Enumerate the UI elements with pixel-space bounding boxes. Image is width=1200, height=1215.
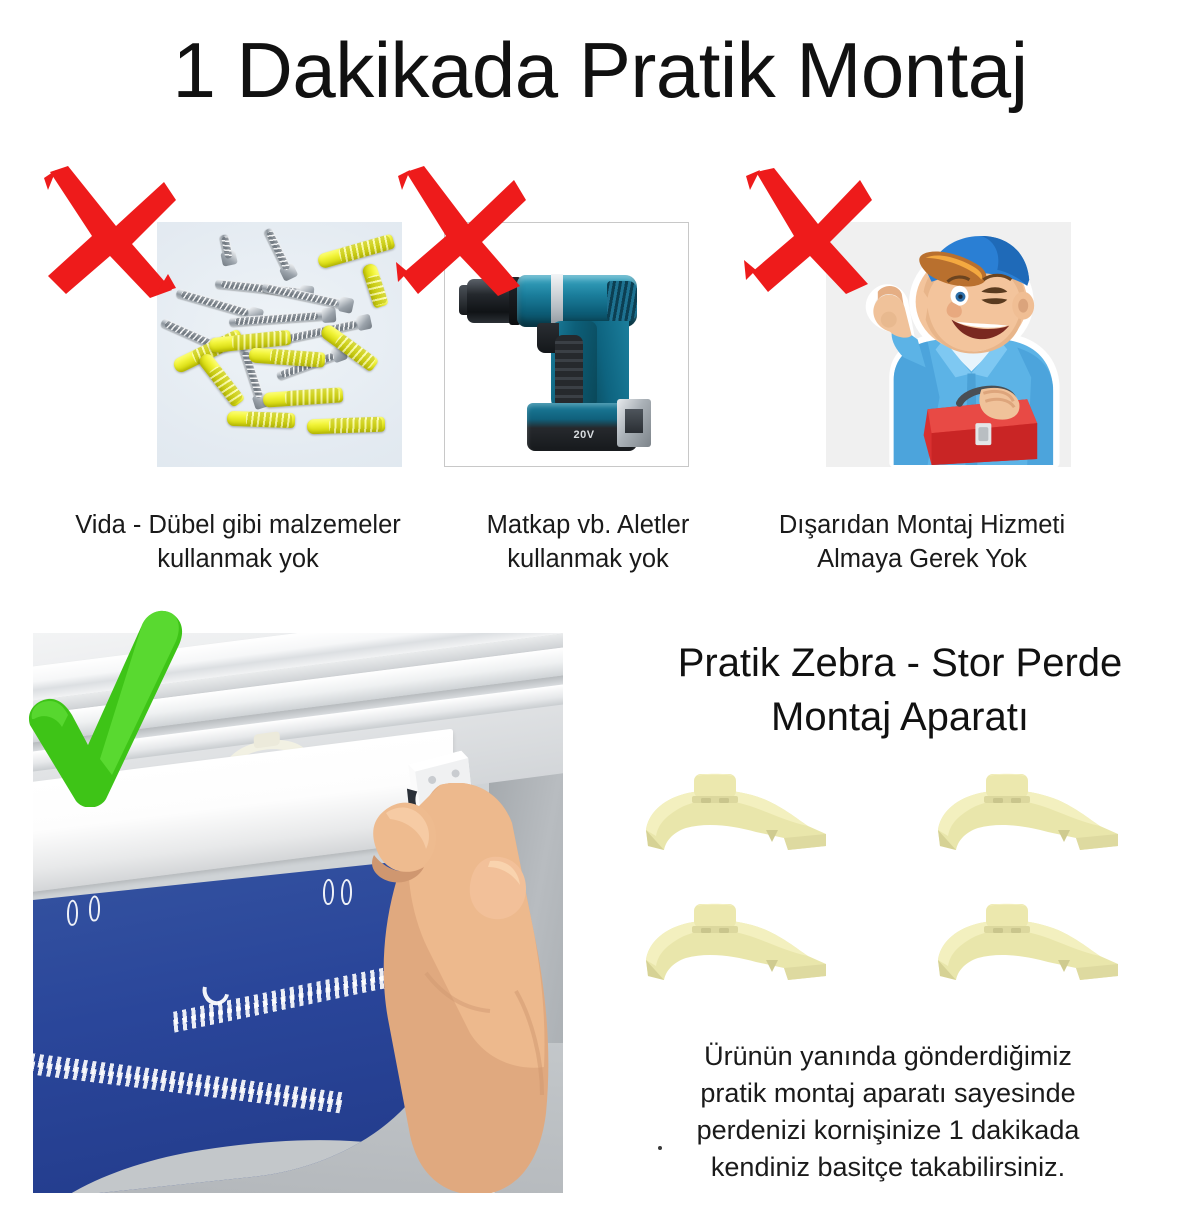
product-description-line2: pratik montaj aparatı sayesinde <box>700 1078 1075 1108</box>
infographic-page: 1 Dakikada Pratik Montaj Vida - Dübel gi… <box>0 0 1200 1215</box>
curtain-rail-mounting-clip <box>930 902 1130 988</box>
stray-dot <box>658 1146 662 1150</box>
product-heading-line2: Montaj Aparatı <box>771 695 1029 739</box>
product-heading-line1: Pratik Zebra - Stor Perde <box>678 641 1123 685</box>
caption-worker-line2: Almaya Gerek Yok <box>817 545 1027 573</box>
caption-screws: Vida - Dübel gibi malzemeler kullanmak y… <box>28 508 448 576</box>
handyman-illustration <box>832 228 1071 467</box>
caption-drill-line1: Matkap vb. Aletler <box>487 511 690 539</box>
green-check-icon <box>22 607 190 807</box>
caption-worker-line1: Dışarıdan Montaj Hizmeti <box>779 511 1065 539</box>
curtain-rail-mounting-clip <box>638 772 838 858</box>
product-description-line1: Ürünün yanında gönderdiğimiz <box>704 1041 1072 1071</box>
curtain-rail-mounting-clip <box>930 772 1130 858</box>
product-description-line3: perdenizi kornişinize 1 dakikada <box>697 1115 1080 1145</box>
hand <box>366 783 563 1193</box>
caption-screws-line1: Vida - Dübel gibi malzemeler <box>75 511 401 539</box>
caption-worker: Dışarıdan Montaj Hizmeti Almaya Gerek Yo… <box>752 508 1092 576</box>
caption-drill-line2: kullanmak yok <box>507 545 669 573</box>
page-title: 1 Dakikada Pratik Montaj <box>0 26 1200 114</box>
drill-battery-label: 20V <box>563 427 605 443</box>
cordless-drill-photo: 20V <box>444 222 689 467</box>
curtain-rail-mounting-clip <box>638 902 838 988</box>
caption-drill: Matkap vb. Aletler kullanmak yok <box>438 508 738 576</box>
product-description: Ürünün yanında gönderdiğimiz pratik mont… <box>648 1038 1128 1186</box>
drill-illustration: 20V <box>459 263 674 453</box>
product-description-line4: kendiniz basitçe takabilirsiniz. <box>711 1152 1065 1182</box>
caption-screws-line2: kullanmak yok <box>157 545 319 573</box>
screws-and-wall-plugs-photo <box>157 222 402 467</box>
mounting-clip-grid <box>610 762 1190 992</box>
handyman-cartoon-with-toolbox <box>826 222 1071 467</box>
product-heading: Pratik Zebra - Stor Perde Montaj Aparatı <box>600 636 1200 744</box>
